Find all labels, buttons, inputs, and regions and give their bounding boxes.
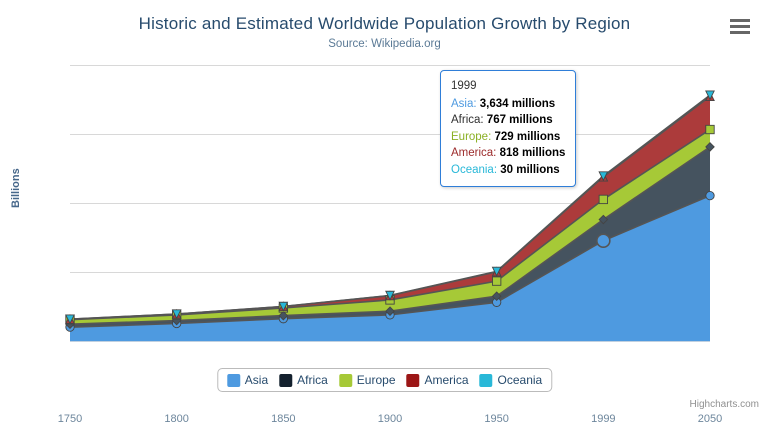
tooltip-series-name: Oceania: — [451, 164, 500, 176]
x-axis-tick-label: 1950 — [457, 413, 537, 425]
legend-item-label: Oceania — [498, 373, 543, 387]
tooltip-series-value: 729 millions — [494, 131, 560, 143]
tooltip-series-value: 818 millions — [500, 147, 566, 159]
tooltip-series-name: Europe: — [451, 131, 494, 143]
hamburger-menu-icon[interactable] — [728, 17, 752, 39]
data-point-marker[interactable] — [492, 277, 500, 285]
x-axis-tick-label: 1850 — [243, 413, 323, 425]
tooltip-row: Europe: 729 millions — [451, 129, 565, 146]
tooltip-series-name: Asia: — [451, 98, 480, 110]
tooltip-row: Oceania: 30 millions — [451, 162, 565, 179]
credits-link[interactable]: Highcharts.com — [690, 399, 759, 410]
legend-swatch-icon — [407, 374, 420, 387]
x-axis-tick-label: 1750 — [30, 413, 110, 425]
menu-bar-2 — [730, 25, 750, 28]
legend-item-europe[interactable]: Europe — [339, 373, 396, 387]
tooltip-rows: Asia: 3,634 millionsAfrica: 767 millions… — [451, 96, 565, 179]
tooltip-series-value: 30 millions — [500, 164, 559, 176]
chart-subtitle: Source: Wikipedia.org — [0, 38, 769, 50]
legend-item-africa[interactable]: Africa — [279, 373, 328, 387]
x-axis-tick-label: 1999 — [563, 413, 643, 425]
legend-swatch-icon — [227, 374, 240, 387]
legend-swatch-icon — [339, 374, 352, 387]
tooltip-header: 1999 — [451, 78, 565, 96]
legend-swatch-icon — [279, 374, 292, 387]
tooltip-series-name: America: — [451, 147, 500, 159]
data-point-marker[interactable] — [706, 125, 714, 133]
highcharts-container: Historic and Estimated Worldwide Populat… — [0, 0, 769, 416]
tooltip-row: Asia: 3,634 millions — [451, 96, 565, 113]
tooltip: 1999 Asia: 3,634 millionsAfrica: 767 mil… — [440, 70, 576, 187]
tooltip-series-name: Africa: — [451, 114, 487, 126]
legend-item-oceania[interactable]: Oceania — [480, 373, 543, 387]
tooltip-series-value: 3,634 millions — [480, 98, 555, 110]
plot-area: 02.557.510 1750180018501900195019992050 — [70, 65, 710, 341]
tooltip-row: America: 818 millions — [451, 145, 565, 162]
series-layer — [70, 65, 710, 342]
legend-item-asia[interactable]: Asia — [227, 373, 268, 387]
data-point-marker[interactable] — [597, 234, 610, 247]
legend-item-label: Asia — [245, 373, 268, 387]
x-axis-tick-label: 1800 — [137, 413, 217, 425]
legend-item-label: Europe — [357, 373, 396, 387]
x-axis-tick-label: 1900 — [350, 413, 430, 425]
tooltip-row: Africa: 767 millions — [451, 112, 565, 129]
data-point-marker[interactable] — [599, 195, 607, 203]
y-axis-title: Billions — [10, 168, 22, 208]
legend-item-label: Africa — [297, 373, 328, 387]
legend-item-america[interactable]: America — [407, 373, 469, 387]
data-point-marker[interactable] — [706, 191, 714, 199]
menu-bar-1 — [730, 19, 750, 22]
legend-item-label: America — [425, 373, 469, 387]
tooltip-series-value: 767 millions — [487, 114, 553, 126]
menu-bar-3 — [730, 31, 750, 34]
chart-title: Historic and Estimated Worldwide Populat… — [0, 14, 769, 34]
x-axis-tick-label: 2050 — [670, 413, 750, 425]
legend-swatch-icon — [480, 374, 493, 387]
chart-legend: AsiaAfricaEuropeAmericaOceania — [217, 368, 552, 392]
